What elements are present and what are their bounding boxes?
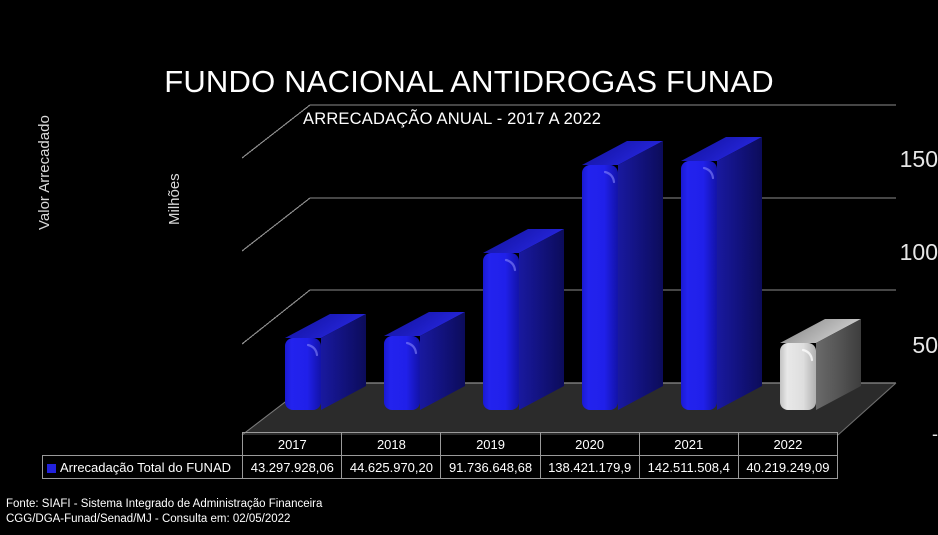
table-cell-2020: 138.421.179,9 [540,456,639,479]
chart-title: FUNDO NACIONAL ANTIDROGAS FUNAD [0,64,938,100]
table-cell-2017: 43.297.928,06 [243,456,342,479]
bar-2019 [483,229,564,410]
table-cell-2022: 40.219.249,09 [738,456,837,479]
chart-subtitle: ARRECADAÇÃO ANUAL - 2017 A 2022 [303,110,601,129]
table-header-row: 2017 2018 2019 2020 2021 2022 [43,433,838,456]
table-col-header-2018: 2018 [342,433,441,456]
table-col-header-2017: 2017 [243,433,342,456]
footer-line-1: Fonte: SIAFI - Sistema Integrado de Admi… [6,497,322,512]
bar-2020 [582,141,663,410]
legend-entry: Arrecadação Total do FUNAD [43,456,243,479]
footer-line-2: CGG/DGA-Funad/Senad/MJ - Consulta em: 02… [6,512,322,527]
bar-2017 [285,314,366,410]
y-axis-title: Valor Arrecadado [36,115,53,230]
chart-canvas: FUNDO NACIONAL ANTIDROGAS FUNAD ARRECADA… [0,0,938,535]
legend-color-swatch [47,464,56,473]
footer-source: Fonte: SIAFI - Sistema Integrado de Admi… [6,497,322,527]
table-cell-2018: 44.625.970,20 [342,456,441,479]
table-col-header-2020: 2020 [540,433,639,456]
y-axis-unit-label: Milhões [166,173,183,225]
table-cell-2021: 142.511.508,4 [639,456,738,479]
legend-series-label: Arrecadação Total do FUNAD [60,460,231,475]
table-col-header-2019: 2019 [441,433,540,456]
y-tick-label-150: 150 [706,146,938,173]
table-col-header-2021: 2021 [639,433,738,456]
bar-2018 [384,312,465,410]
table-col-header-2022: 2022 [738,433,837,456]
table-cell-2019: 91.736.648,68 [441,456,540,479]
data-table: 2017 2018 2019 2020 2021 2022 Arrecadaçã… [42,432,838,479]
bar-2021 [681,137,762,410]
y-tick-label-100: 100 [706,239,938,266]
y-tick-label-50: 50 [706,332,938,359]
table-corner-cell [43,433,243,456]
table-row: Arrecadação Total do FUNAD 43.297.928,06… [43,456,838,479]
